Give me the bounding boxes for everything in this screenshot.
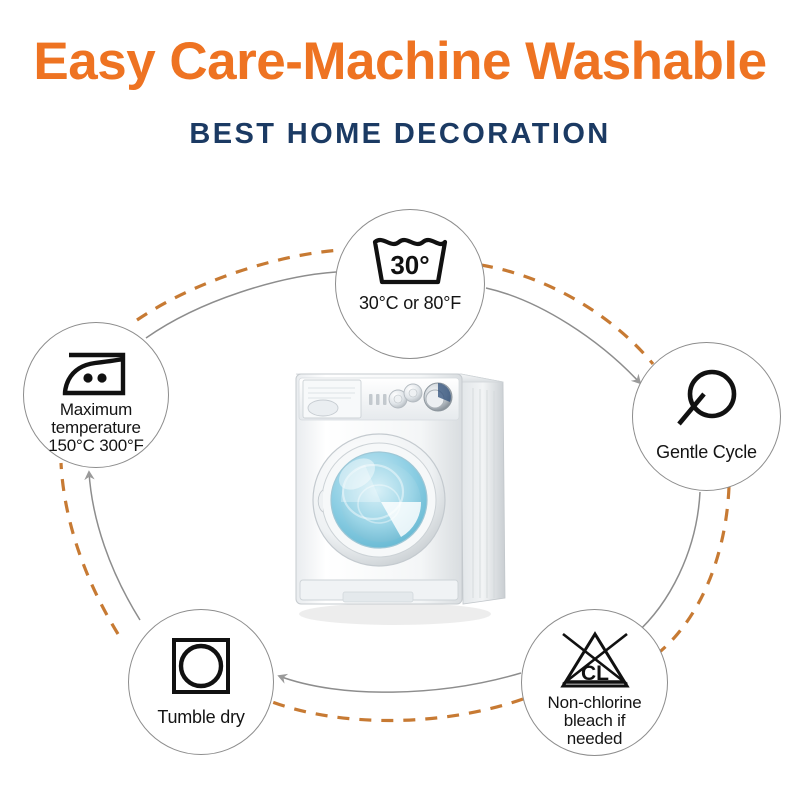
connector-tumble-to-iron <box>61 463 140 634</box>
gentle-cycle-icon <box>672 367 742 433</box>
care-node-bleach[interactable]: CL Non-chlorine bleach if needed <box>521 609 668 756</box>
connector-iron-to-wash <box>137 250 341 338</box>
washing-machine-image <box>283 352 518 627</box>
svg-text:30°: 30° <box>390 250 429 280</box>
care-node-iron-label: Maximum temperature 150°C 300°F <box>48 401 144 455</box>
care-node-iron[interactable]: Maximum temperature 150°C 300°F <box>23 322 169 468</box>
wash-tub-30-icon: 30° <box>370 234 450 288</box>
care-node-bleach-label: Non-chlorine bleach if needed <box>548 694 642 748</box>
care-instructions-poster: Easy Care-Machine Washable BEST HOME DEC… <box>0 0 800 800</box>
care-node-wash[interactable]: 30° 30°C or 80°F <box>335 209 485 359</box>
tumble-dry-icon <box>169 636 233 696</box>
care-node-gentle-cycle[interactable]: Gentle Cycle <box>632 342 781 491</box>
iron-two-dots-icon <box>55 347 137 399</box>
care-node-tumble-dry[interactable]: Tumble dry <box>128 609 274 755</box>
care-node-tumble-dry-label: Tumble dry <box>157 708 244 727</box>
non-chlorine-bleach-icon: CL <box>551 628 639 692</box>
connector-bleach-to-tumble <box>267 673 523 721</box>
care-node-gentle-cycle-label: Gentle Cycle <box>656 443 757 462</box>
care-node-wash-label: 30°C or 80°F <box>359 294 461 313</box>
